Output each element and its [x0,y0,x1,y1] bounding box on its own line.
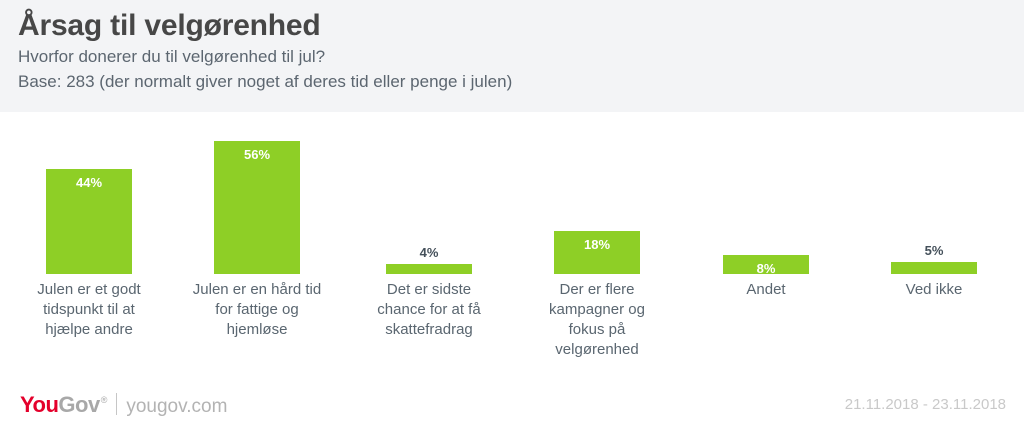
category-label-line: tidspunkt til at [43,301,135,318]
logo-you-text: You [20,392,58,418]
footer-divider [116,393,117,415]
chart-footer: You Gov ® yougov.com 21.11.2018 - 23.11.… [0,382,1024,427]
category-label: Julen er en hård tidfor fattige oghjemlø… [180,280,334,340]
bar[interactable] [891,262,977,274]
page-title: Årsag til velgørenhed [18,8,1024,44]
bar-column: 8% [701,112,831,274]
category-label: Det er sidstechance for at fåskattefradr… [352,280,506,340]
category-label-line: for fattige og [215,301,298,318]
bar-group: 5%Ved ikke [869,112,999,380]
bar-column: 56% [192,112,322,274]
category-label-line: Der er flere [559,281,634,298]
bar[interactable]: 44% [46,169,132,274]
bar[interactable]: 56% [214,141,300,274]
category-label-line: Ved ikke [906,281,963,298]
bar-value-label: 4% [364,245,494,261]
bar-group: 4%Det er sidstechance for at fåskattefra… [364,112,494,380]
yougov-branding: You Gov ® yougov.com [20,390,227,418]
category-label-line: hjemløse [227,321,288,338]
bar-value-label: 8% [723,261,809,277]
category-label-line: chance for at få [377,301,480,318]
bar[interactable] [386,264,472,274]
category-label-line: Julen er en hård tid [193,281,321,298]
bar-group: 8%Andet [701,112,831,380]
category-label-line: Julen er et godt [37,281,140,298]
bar-value-label: 44% [46,175,132,191]
fieldwork-date-range: 21.11.2018 - 23.11.2018 [845,396,1006,413]
bar[interactable]: 18% [554,231,640,274]
bar-group: 18%Der er flerekampagner ogfokus påvelgø… [532,112,662,380]
category-label-line: Det er sidste [387,281,471,298]
category-label-line: velgørenhed [555,341,638,358]
bar-chart-plot-area: 44%Julen er et godttidspunkt til athjælp… [0,112,1024,380]
chart-base-text: Base: 283 (der normalt giver noget af de… [18,69,1024,94]
registered-trademark-icon: ® [101,395,108,405]
bar[interactable]: 8% [723,255,809,274]
bar-column: 44% [24,112,154,274]
bar-column: 5% [869,112,999,274]
bar-column: 4% [364,112,494,274]
bar-value-label: 18% [554,237,640,253]
category-label-line: fokus på [569,321,626,338]
category-label: Ved ikke [857,280,1011,300]
category-label-line: kampagner og [549,301,645,318]
bar-value-label: 56% [214,147,300,163]
category-label-line: hjælpe andre [45,321,133,338]
chart-subtitle: Hvorfor donerer du til velgørenhed til j… [18,44,1024,69]
category-label: Andet [689,280,843,300]
chart-header: Årsag til velgørenhed Hvorfor donerer du… [0,0,1024,112]
bar-value-label: 5% [869,243,999,259]
category-label-line: skattefradrag [385,321,473,338]
category-label-line: Andet [746,281,785,298]
logo-gov-text: Gov [58,392,99,418]
category-label: Julen er et godttidspunkt til athjælpe a… [12,280,166,340]
yougov-domain-text: yougov.com [126,396,227,418]
category-label: Der er flerekampagner ogfokus påvelgøren… [520,280,674,360]
bar-group: 56%Julen er en hård tidfor fattige oghje… [192,112,322,380]
bar-column: 18% [532,112,662,274]
bar-group: 44%Julen er et godttidspunkt til athjælp… [24,112,154,380]
